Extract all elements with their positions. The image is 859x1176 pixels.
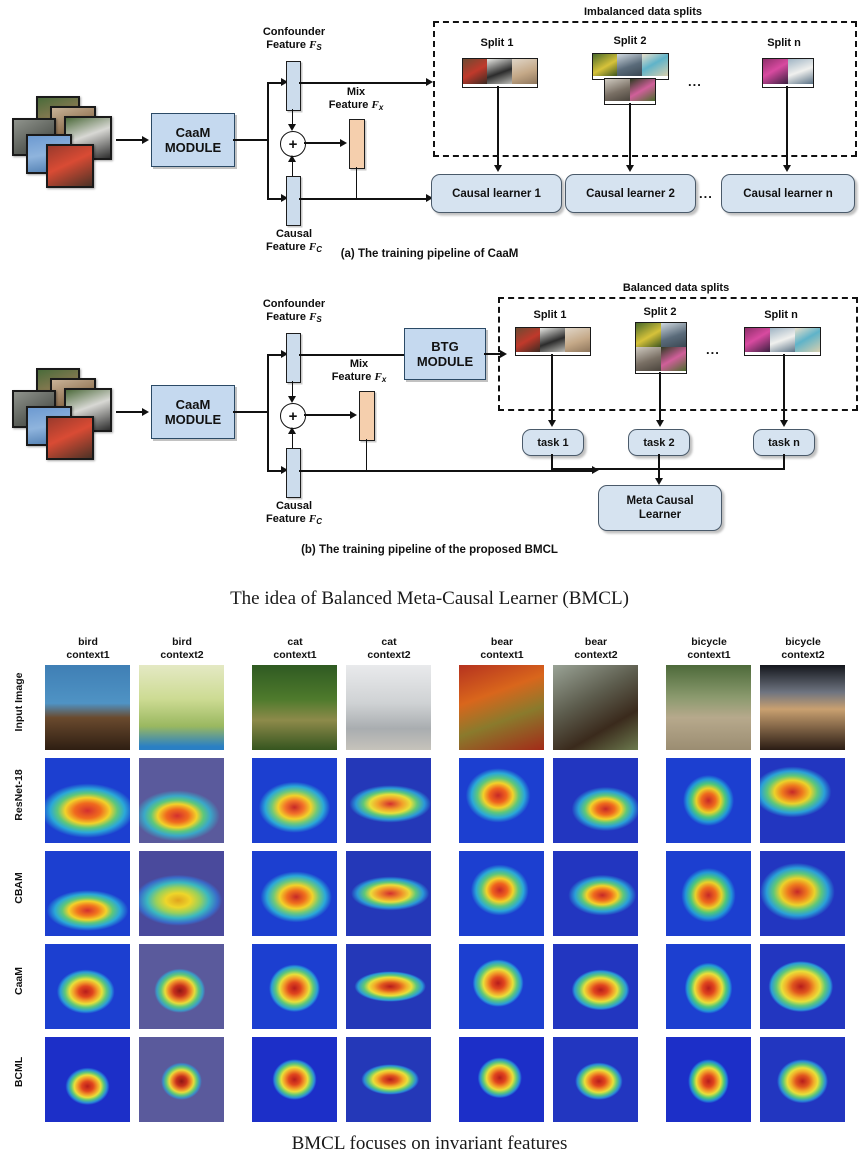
col-header-5: bear context2 — [554, 636, 638, 661]
causal-learner-2-box[interactable]: Causal learner 2 — [565, 174, 696, 213]
thumb — [795, 328, 820, 352]
split-1-label-b: Split 1 — [515, 309, 585, 322]
confounder-l2: Feature — [266, 39, 306, 51]
panel-b: CaaM MODULE Confounder Feature FS + Caus… — [0, 272, 859, 568]
confounder-l1-b: Confounder — [263, 298, 325, 310]
btg-line2: MODULE — [417, 354, 473, 369]
cell-resnet18-bear-context1 — [459, 758, 544, 843]
confounder-feature-bar-a — [286, 61, 301, 111]
arrowhead-split2-to-learner2-a — [626, 165, 634, 172]
caam-module-line1-b: CaaM — [176, 397, 211, 412]
thumb — [512, 59, 537, 84]
line-confounder-to-btg-b — [299, 354, 404, 356]
cell-caam-bicycle-context1 — [666, 944, 751, 1029]
bus-line-b — [233, 411, 269, 413]
plus-symbol: + — [289, 137, 298, 152]
cell-caam-bicycle-context2 — [760, 944, 845, 1029]
col-context: context1 — [66, 649, 109, 661]
causal-l1-b: Causal — [276, 500, 312, 512]
task-1-label: task 1 — [537, 436, 568, 450]
cell-caam-cat-context1 — [252, 944, 337, 1029]
mix-l1-b: Mix — [350, 358, 368, 370]
cell-cbam-cat-context1 — [252, 851, 337, 936]
col-context: context2 — [160, 649, 203, 661]
arrowhead-plus-to-mix-a — [340, 139, 347, 147]
task-2-label: task 2 — [643, 436, 674, 450]
causal-feature-bar-a — [286, 176, 301, 226]
col-context: context1 — [273, 649, 316, 661]
col-object: cat — [287, 636, 302, 648]
col-header-1: bird context2 — [140, 636, 224, 661]
split-1-thumbs-a — [462, 58, 538, 88]
col-context: context2 — [574, 649, 617, 661]
cell-input-cat-context1 — [252, 665, 337, 750]
thumb — [770, 328, 795, 352]
causal-learner-2-label: Causal learner 2 — [586, 187, 675, 201]
bus-vertical-a — [267, 82, 269, 199]
arrowhead-splitn-to-learnern-a — [783, 165, 791, 172]
col-object: bear — [491, 636, 513, 648]
cell-cbam-bird-context2 — [139, 851, 224, 936]
thumb — [661, 347, 686, 371]
learners-ellipsis-a: ... — [699, 186, 713, 201]
split-2-label-a: Split 2 — [590, 35, 670, 48]
row-header-caam: CaaM — [13, 943, 25, 1019]
cell-caam-cat-context2 — [346, 944, 431, 1029]
cell-resnet18-cat-context2 — [346, 758, 431, 843]
panel-a-caption: (a) The training pipeline of CaaM — [0, 248, 859, 260]
cell-bcml-bird-context1 — [45, 1037, 130, 1122]
splits-ellipsis-a: ... — [688, 74, 702, 89]
bottom-caption: BMCL focuses on invariant features — [0, 1133, 859, 1155]
cell-bcml-bird-context2 — [139, 1037, 224, 1122]
cell-input-bear-context2 — [553, 665, 638, 750]
thumb — [487, 59, 512, 84]
mix-sym-b: F — [375, 371, 382, 383]
thumb — [630, 79, 655, 101]
col-object: bird — [78, 636, 98, 648]
cell-input-cat-context2 — [346, 665, 431, 750]
confounder-feature-bar-b — [286, 333, 301, 383]
arrowhead-splitn-to-taskn-b — [780, 420, 788, 427]
col-context: context2 — [367, 649, 410, 661]
cell-bcml-bicycle-context2 — [760, 1037, 845, 1122]
panel-b-caption: (b) The training pipeline of the propose… — [0, 544, 859, 556]
thumb — [636, 347, 661, 371]
sum-node-a: + — [280, 131, 306, 157]
line-causal-to-plus-b — [292, 432, 294, 448]
cell-input-bicycle-context2 — [760, 665, 845, 750]
confounder-feature-label-a: Confounder Feature FS — [239, 26, 349, 54]
cell-caam-bear-context1 — [459, 944, 544, 1029]
arrowhead-split1-to-learner1-a — [494, 165, 502, 172]
line-splitn-to-learnern-a — [786, 86, 788, 167]
col-header-0: bird context1 — [46, 636, 130, 661]
cell-bcml-bear-context2 — [553, 1037, 638, 1122]
thumb — [463, 59, 487, 84]
cell-input-bear-context1 — [459, 665, 544, 750]
arrow-head-input-to-caam — [142, 136, 149, 144]
causal-l1: Causal — [276, 228, 312, 240]
splits-ellipsis-b: ... — [706, 342, 720, 357]
split-2-thumbs-a — [592, 53, 669, 80]
cell-input-bird-context1 — [45, 665, 130, 750]
split-n-label-b: Split n — [746, 309, 816, 322]
cell-bcml-cat-context2 — [346, 1037, 431, 1122]
thumb — [745, 328, 770, 352]
thumb — [617, 54, 642, 76]
line-split2-to-task2-b — [659, 372, 661, 422]
middle-caption: The idea of Balanced Meta-Causal Learner… — [0, 588, 859, 610]
arrowhead-confounder-to-plus-a — [288, 124, 296, 131]
thumb — [788, 59, 813, 84]
causal-learner-n-label: Causal learner n — [743, 187, 832, 201]
arrow-line-input-to-caam-b — [116, 411, 144, 413]
cell-cbam-bicycle-context2 — [760, 851, 845, 936]
line-taskn-down — [783, 454, 785, 469]
col-context: context1 — [480, 649, 523, 661]
thumb — [605, 79, 630, 101]
cell-input-bicycle-context1 — [666, 665, 751, 750]
bus-line-a — [233, 139, 269, 141]
split-2-label-b: Split 2 — [625, 306, 695, 319]
split-n-thumbs-b — [744, 327, 821, 356]
btg-module-box[interactable]: BTG MODULE — [404, 328, 486, 380]
split-n-label-a: Split n — [744, 37, 824, 50]
split-1-thumbs-b — [515, 327, 591, 356]
row-header-cbam: CBAM — [13, 850, 25, 926]
line-plus-to-mix-a — [304, 142, 342, 144]
arrow-head-input-to-caam-b — [142, 408, 149, 416]
col-header-7: bicycle context2 — [761, 636, 845, 661]
split-1-label-a: Split 1 — [457, 37, 537, 50]
col-header-4: bear context1 — [460, 636, 544, 661]
arrowhead-causal-to-plus-b — [288, 427, 296, 434]
line-mix-down-a — [356, 167, 358, 199]
cell-cbam-cat-context2 — [346, 851, 431, 936]
line-confounder-to-splits-a — [299, 82, 428, 84]
input-image-stack-a — [8, 96, 120, 184]
line-causal-to-plus-a — [292, 160, 294, 176]
split-n-thumbs-a — [762, 58, 814, 88]
cell-bcml-cat-context1 — [252, 1037, 337, 1122]
cell-resnet18-bird-context1 — [45, 758, 130, 843]
task-n-label: task n — [768, 436, 800, 450]
confounder-l1: Confounder — [263, 26, 325, 38]
arrowhead-causal-to-plus-a — [288, 155, 296, 162]
split-2-thumbs-row2-a — [604, 78, 656, 105]
cell-resnet18-bear-context2 — [553, 758, 638, 843]
caam-module-box-a[interactable]: CaaM MODULE — [151, 113, 235, 167]
imbalanced-splits-title: Imbalanced data splits — [433, 6, 853, 19]
thumb — [636, 323, 661, 347]
cell-caam-bear-context2 — [553, 944, 638, 1029]
stack-thumb — [46, 416, 94, 460]
mix-subsym: x — [379, 103, 383, 112]
causal-feature-bar-b — [286, 448, 301, 498]
cell-resnet18-bicycle-context1 — [666, 758, 751, 843]
balanced-splits-title: Balanced data splits — [498, 282, 854, 295]
cell-cbam-bird-context1 — [45, 851, 130, 936]
thumb — [763, 59, 788, 84]
thumb — [642, 54, 668, 76]
line-split1-to-task1-b — [551, 354, 553, 422]
cell-resnet18-cat-context1 — [252, 758, 337, 843]
plus-symbol-b: + — [289, 409, 298, 424]
mix-feature-bar-a — [349, 119, 365, 169]
arrowhead-tasks-to-meta — [655, 478, 663, 485]
line-causal-to-learner-a — [299, 198, 428, 200]
arrowhead-confounder-to-splits-a — [426, 78, 433, 86]
row-header-bcml: BCML — [13, 1034, 25, 1110]
mix-l1: Mix — [347, 86, 365, 98]
arrow-line-input-to-caam — [116, 139, 144, 141]
visualization-grid: bird context1 bird context2 cat context1… — [0, 636, 859, 1106]
col-object: cat — [381, 636, 396, 648]
cell-cbam-bear-context2 — [553, 851, 638, 936]
confounder-subsym-b: S — [316, 315, 321, 324]
causal-learner-1-box[interactable]: Causal learner 1 — [431, 174, 562, 213]
confounder-subsym: S — [316, 43, 321, 52]
confounder-l2-b: Feature — [266, 311, 306, 323]
col-object: bird — [172, 636, 192, 648]
cell-cbam-bear-context1 — [459, 851, 544, 936]
cell-resnet18-bird-context2 — [139, 758, 224, 843]
mix-feature-label-b: Mix Feature Fx — [311, 358, 407, 386]
col-context: context2 — [781, 649, 824, 661]
causal-feature-label-b: Causal Feature FC — [239, 500, 349, 528]
bus-vertical-b — [267, 354, 269, 471]
panel-a: CaaM MODULE Confounder Feature FS + Caus… — [0, 0, 859, 262]
col-context: context1 — [687, 649, 730, 661]
col-header-3: cat context2 — [347, 636, 431, 661]
cell-resnet18-bicycle-context2 — [760, 758, 845, 843]
mix-sym: F — [372, 99, 379, 111]
line-mix-down-b — [366, 439, 368, 471]
thumb — [565, 328, 590, 352]
cell-input-bird-context2 — [139, 665, 224, 750]
cell-bcml-bicycle-context1 — [666, 1037, 751, 1122]
thumb — [661, 323, 686, 347]
cell-cbam-bicycle-context1 — [666, 851, 751, 936]
cell-caam-bird-context1 — [45, 944, 130, 1029]
thumb — [516, 328, 540, 352]
confounder-feature-label-b: Confounder Feature FS — [239, 298, 349, 326]
col-header-6: bicycle context1 — [667, 636, 751, 661]
line-task2-down — [658, 454, 660, 481]
mix-l2-b: Feature — [332, 371, 372, 383]
meta-causal-learner-box[interactable]: Meta Causal Learner — [598, 485, 722, 531]
input-image-stack-b — [8, 368, 120, 456]
cell-caam-bird-context2 — [139, 944, 224, 1029]
arrowhead-split2-to-task2-b — [656, 420, 664, 427]
arrowhead-split1-to-task1-b — [548, 420, 556, 427]
mix-feature-bar-b — [359, 391, 375, 441]
causal-subsym-b: C — [316, 517, 322, 526]
col-object: bicycle — [691, 636, 727, 648]
causal-learner-n-box[interactable]: Causal learner n — [721, 174, 855, 213]
line-split1-to-learner1-a — [497, 86, 499, 167]
split-2-thumbs-b — [635, 322, 687, 374]
mix-feature-label-a: Mix Feature Fx — [308, 86, 404, 114]
mix-subsym-b: x — [382, 375, 386, 384]
task-2-box[interactable]: task 2 — [628, 429, 690, 456]
mix-l2: Feature — [329, 99, 369, 111]
caam-module-box-b[interactable]: CaaM MODULE — [151, 385, 235, 439]
col-object: bicycle — [785, 636, 821, 648]
task-1-box[interactable]: task 1 — [522, 429, 584, 456]
col-header-2: cat context1 — [253, 636, 337, 661]
line-splitn-to-taskn-b — [783, 354, 785, 422]
stack-thumb — [46, 144, 94, 188]
task-n-box[interactable]: task n — [753, 429, 815, 456]
meta-causal-learner-line2: Learner — [639, 508, 681, 522]
thumb — [593, 54, 617, 76]
line-causal-to-meta-b — [299, 470, 594, 472]
sum-node-b: + — [280, 403, 306, 429]
row-header-resnet18: ResNet-18 — [13, 757, 25, 833]
cell-bcml-bear-context1 — [459, 1037, 544, 1122]
caam-module-line2: MODULE — [165, 140, 221, 155]
causal-learner-1-label: Causal learner 1 — [452, 187, 541, 201]
causal-l2-b: Feature — [266, 513, 306, 525]
row-header-input-image: Input Image — [13, 664, 25, 740]
line-plus-to-mix-b — [304, 414, 352, 416]
caam-module-line1: CaaM — [176, 125, 211, 140]
col-object: bear — [585, 636, 607, 648]
arrowhead-confounder-to-plus-b — [288, 396, 296, 403]
arrowhead-plus-to-mix-b — [350, 411, 357, 419]
line-task-bus — [551, 468, 785, 470]
meta-causal-learner-line1: Meta Causal — [626, 494, 693, 508]
caam-module-line2-b: MODULE — [165, 412, 221, 427]
btg-line1: BTG — [431, 339, 458, 354]
line-task1-down — [551, 454, 553, 469]
line-split2-to-learner2-a — [629, 103, 631, 167]
thumb — [540, 328, 565, 352]
